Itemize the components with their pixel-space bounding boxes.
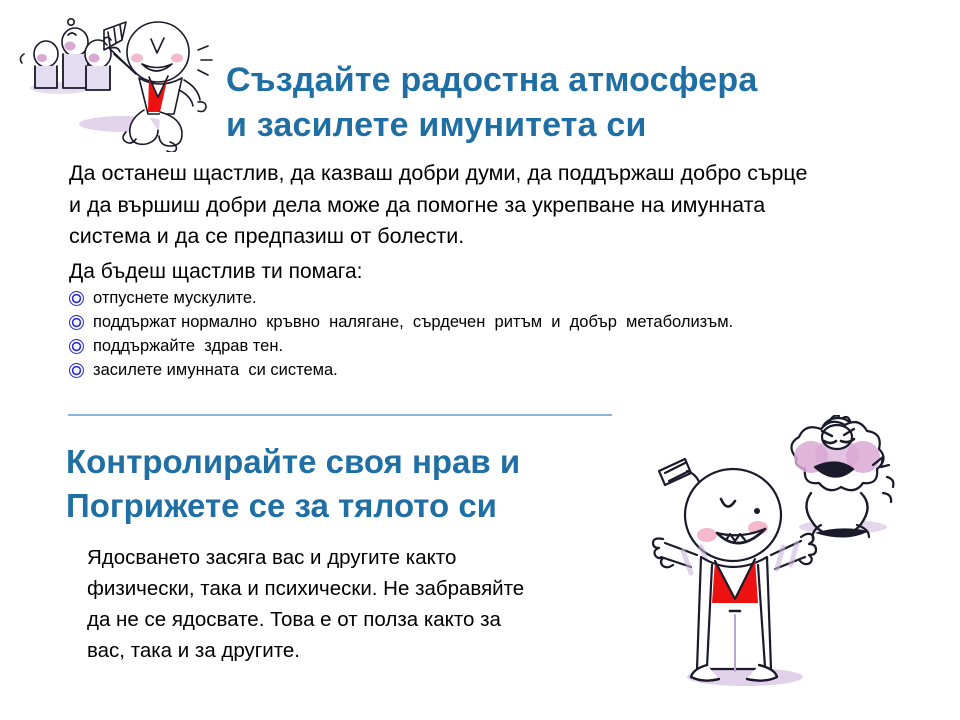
list-item: поддържайте здрав тен. [69, 334, 919, 358]
intro-line-3: система и да се предпазиш от болести. [69, 221, 914, 253]
list-item: отпуснете мускулите. [69, 286, 919, 310]
list-item-label: засилете имунната си система. [93, 360, 338, 380]
list-item-label: отпуснете мускулите. [93, 288, 257, 308]
benefits-list: отпуснете мускулите. поддържат нормално … [69, 286, 919, 382]
list-item-label: поддържат нормално кръвно налягане, сърд… [93, 312, 733, 332]
intro-line-2: и да вършиш добри дела може да помогне з… [69, 190, 914, 222]
main-heading-line-2: и засилете имунитета си [226, 103, 926, 148]
bottom-line-2: физически, така и психически. Не забравя… [87, 573, 627, 604]
second-heading-line-2: Погрижете се за тялото си [66, 484, 666, 528]
main-heading: Създайте радостна атмосфера и засилете и… [226, 58, 926, 148]
second-heading-line-1: Контролирайте своя нрав и [66, 440, 666, 484]
second-heading: Контролирайте своя нрав и Погрижете се з… [66, 440, 666, 528]
section-divider [68, 414, 612, 416]
happy-child-with-flag-illustration [8, 2, 223, 152]
double-circle-bullet-icon [69, 363, 84, 378]
double-circle-bullet-icon [69, 339, 84, 354]
bottom-paragraph: Ядосването засяга вас и другите както фи… [87, 542, 627, 667]
bottom-line-1: Ядосването засяга вас и другите както [87, 542, 627, 573]
list-item-label: поддържайте здрав тен. [93, 336, 283, 356]
bottom-line-3: да не се ядосвате. Това е от полза както… [87, 604, 627, 635]
list-item: засилете имунната си система. [69, 358, 919, 382]
bottom-line-4: вас, така и за другите. [87, 635, 627, 666]
list-lead-text: Да бъдеш щастлив ти помага: [69, 258, 362, 285]
happy-child-and-angry-figure-illustration [625, 415, 960, 720]
list-item: поддържат нормално кръвно налягане, сърд… [69, 310, 919, 334]
main-heading-line-1: Създайте радостна атмосфера [226, 58, 926, 103]
intro-line-1: Да останеш щастлив, да казваш добри думи… [69, 158, 914, 190]
double-circle-bullet-icon [69, 315, 84, 330]
slide-canvas: Създайте радостна атмосфера и засилете и… [0, 0, 960, 720]
intro-paragraph: Да останеш щастлив, да казваш добри думи… [69, 158, 914, 253]
double-circle-bullet-icon [69, 291, 84, 306]
